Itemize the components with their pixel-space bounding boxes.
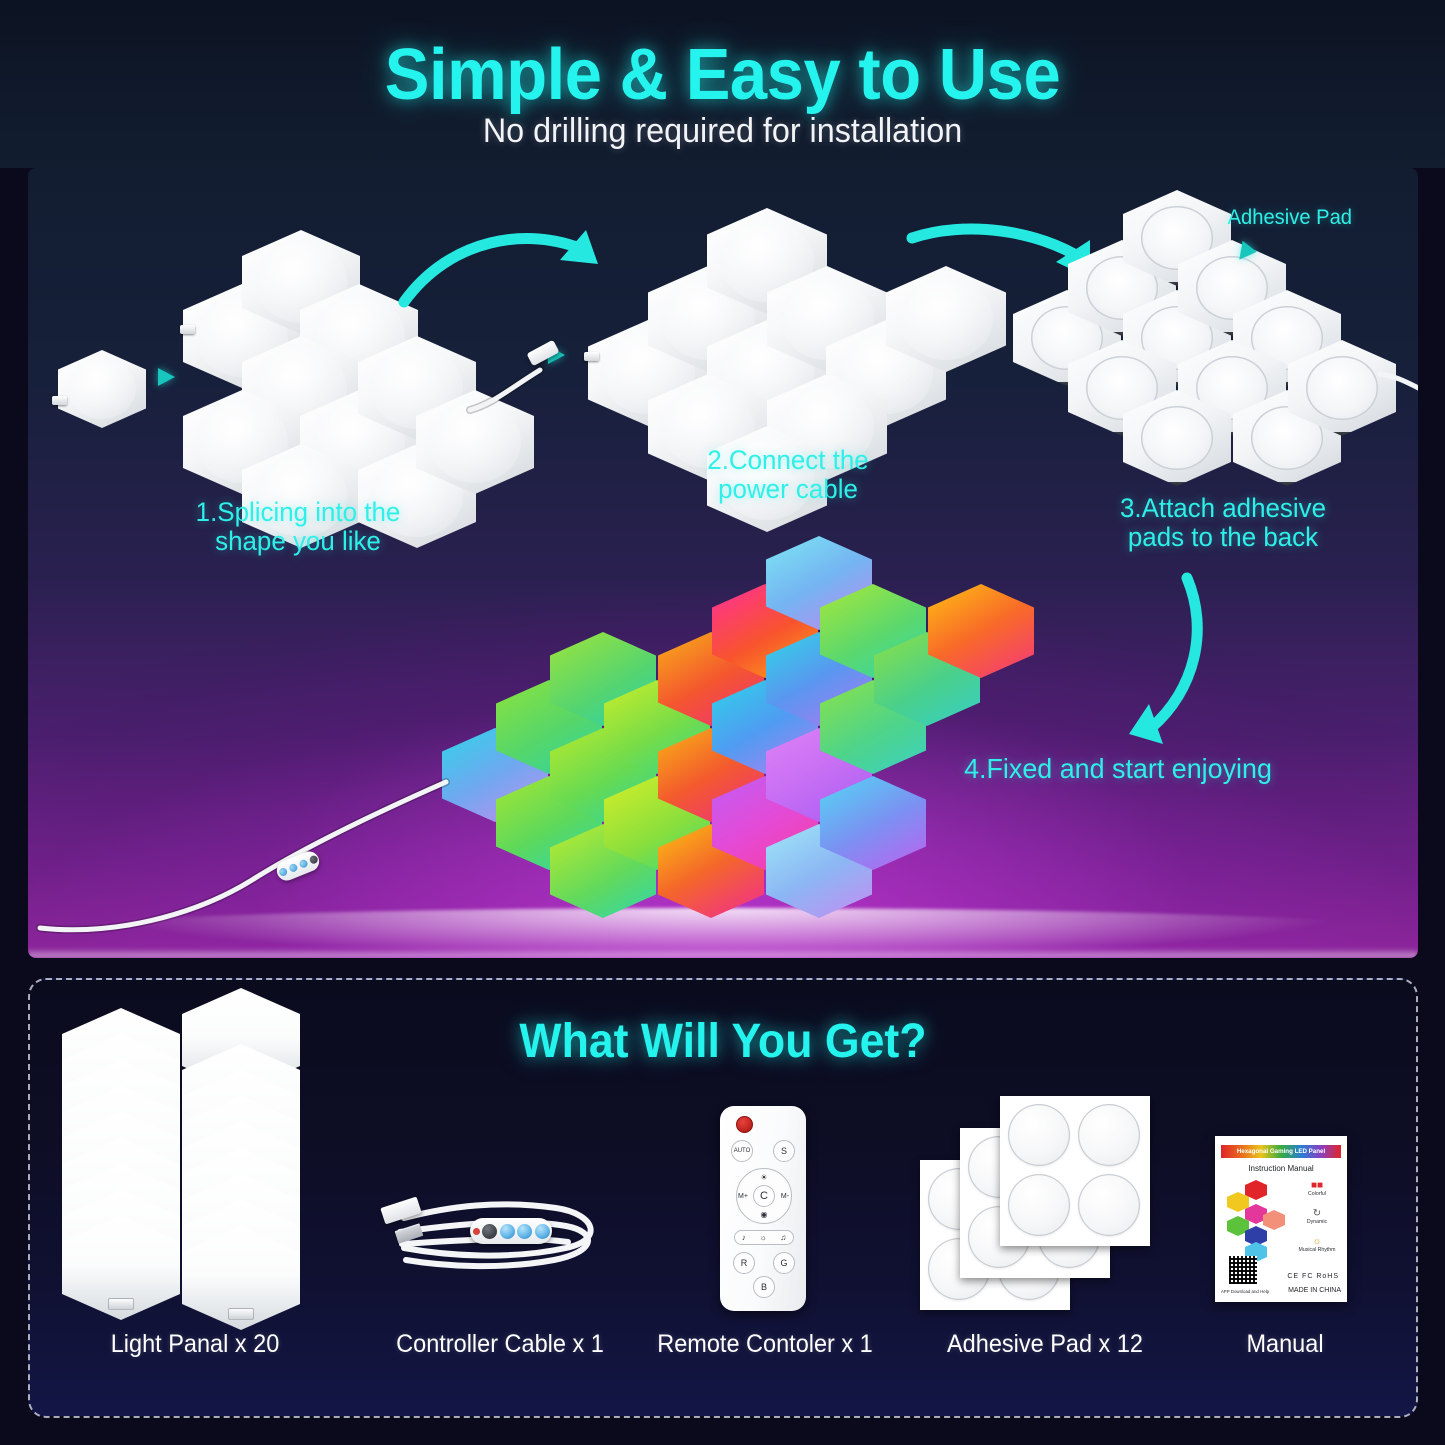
hex-connector: [52, 396, 67, 405]
item-label-light-panel: Light Panal x 20: [49, 1330, 340, 1359]
controller-brightness-button[interactable]: [535, 1224, 550, 1239]
whats-included-panel: What Will You Get?: [28, 978, 1418, 1418]
controller-button[interactable]: [308, 855, 318, 865]
page-title: Simple & Easy to Use: [51, 34, 1395, 116]
remote-mode-prev-button[interactable]: M+: [735, 1189, 751, 1203]
remote-auto-button[interactable]: AUTO: [731, 1140, 753, 1162]
remote-speed-button[interactable]: S: [773, 1140, 795, 1162]
remote-green-button[interactable]: G: [773, 1252, 795, 1274]
manual-certifications: CE FC RoHS: [1287, 1273, 1339, 1280]
flow-arrow-1-icon: [398, 220, 608, 310]
remote-power-button[interactable]: [736, 1116, 753, 1133]
remote-control-body: AUTO S ☀ M+ C M- ◉ ♪ ☼ ♫ R G B: [720, 1106, 806, 1311]
loose-hex-panel: [58, 350, 146, 428]
manual-banner-title: Hexagonal Gaming LED Panel: [1221, 1145, 1341, 1158]
remote-music-3-button[interactable]: ♫: [780, 1233, 786, 1242]
step-2-caption: 2.Connect the power cable: [606, 446, 971, 504]
splice-arrow-icon: [158, 368, 175, 386]
step-3-caption: 3.Attach adhesive pads to the back: [1065, 494, 1382, 552]
controller-mode-button[interactable]: [500, 1224, 515, 1239]
power-cable: [468, 348, 578, 418]
item-label-controller-cable: Controller Cable x 1: [359, 1330, 641, 1359]
cable-inline-controller[interactable]: [470, 1218, 552, 1244]
adhesive-sheet: [1000, 1096, 1150, 1246]
manual-origin: MADE IN CHINA: [1288, 1287, 1341, 1294]
controller-power-button[interactable]: [482, 1224, 497, 1239]
step-4-caption: 4.Fixed and start enjoying: [907, 754, 1329, 784]
qr-code-icon: [1229, 1256, 1257, 1284]
controller-button[interactable]: [298, 859, 308, 869]
back-power-cable: [1380, 364, 1418, 408]
manual-feature-dynamic: ↻ Dynamic: [1295, 1208, 1339, 1225]
manual-hex-graphic: [1227, 1180, 1285, 1246]
power-port: [584, 352, 599, 361]
remote-brightness-down-button[interactable]: ◉: [756, 1207, 772, 1221]
step-1-caption: 1.Splicing into the shape you like: [96, 498, 499, 556]
manual-feature-musical-rhythm: ☼ Musical Rhythm: [1295, 1236, 1339, 1253]
flow-arrow-3-icon: [1113, 574, 1223, 750]
manual-qr-caption: APP Download and Help: [1217, 1289, 1273, 1294]
manual-booklet: Hexagonal Gaming LED Panel Instruction M…: [1215, 1136, 1347, 1302]
manual-subtitle: Instruction Manual: [1215, 1164, 1347, 1173]
remote-center-button[interactable]: C: [753, 1185, 775, 1207]
controller-music-button[interactable]: [517, 1224, 532, 1239]
hex-connector: [180, 325, 195, 334]
remote-mode-next-button[interactable]: M-: [777, 1189, 793, 1203]
item-label-manual: Manual: [1191, 1330, 1379, 1359]
header-banner: Simple & Easy to Use No drilling require…: [0, 0, 1445, 168]
item-label-adhesive-pad: Adhesive Pad x 12: [899, 1330, 1190, 1359]
infographic-page: Simple & Easy to Use No drilling require…: [0, 0, 1445, 1445]
rgb-array-cable: [38, 768, 458, 938]
manual-feature-colorful: ■■ Colorful: [1295, 1180, 1339, 1197]
remote-blue-button[interactable]: B: [753, 1276, 775, 1298]
remote-brightness-up-button[interactable]: ☀: [756, 1170, 772, 1184]
controller-button[interactable]: [288, 863, 298, 873]
remote-red-button[interactable]: R: [733, 1252, 755, 1274]
remote-music-2-button[interactable]: ☼: [759, 1233, 766, 1242]
page-subtitle: No drilling required for installation: [36, 112, 1409, 151]
installation-steps-scene: 1.Splicing into the shape you like: [28, 168, 1418, 958]
item-label-remote-control: Remote Contoler x 1: [629, 1330, 902, 1359]
remote-music-1-button[interactable]: ♪: [742, 1233, 746, 1242]
controller-button[interactable]: [277, 867, 287, 877]
remote-music-row[interactable]: ♪ ☼ ♫: [734, 1230, 794, 1245]
controller-indicator: [473, 1228, 480, 1235]
adhesive-pad-callout: Adhesive Pad: [1228, 206, 1352, 230]
